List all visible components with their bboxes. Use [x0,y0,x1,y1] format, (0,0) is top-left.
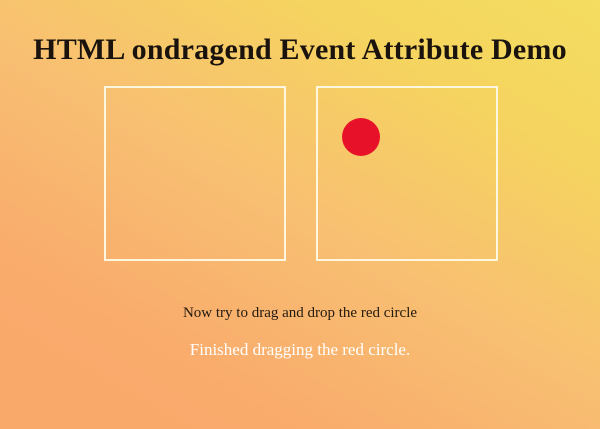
instruction-text: Now try to drag and drop the red circle [0,303,600,323]
demo-page: HTML ondragend Event Attribute Demo Now … [0,0,600,429]
drop-target-box[interactable] [104,86,286,261]
drag-source-box[interactable] [316,86,498,261]
status-message: Finished dragging the red circle. [0,339,600,361]
red-circle-draggable[interactable] [342,118,380,156]
page-title: HTML ondragend Event Attribute Demo [0,32,600,68]
